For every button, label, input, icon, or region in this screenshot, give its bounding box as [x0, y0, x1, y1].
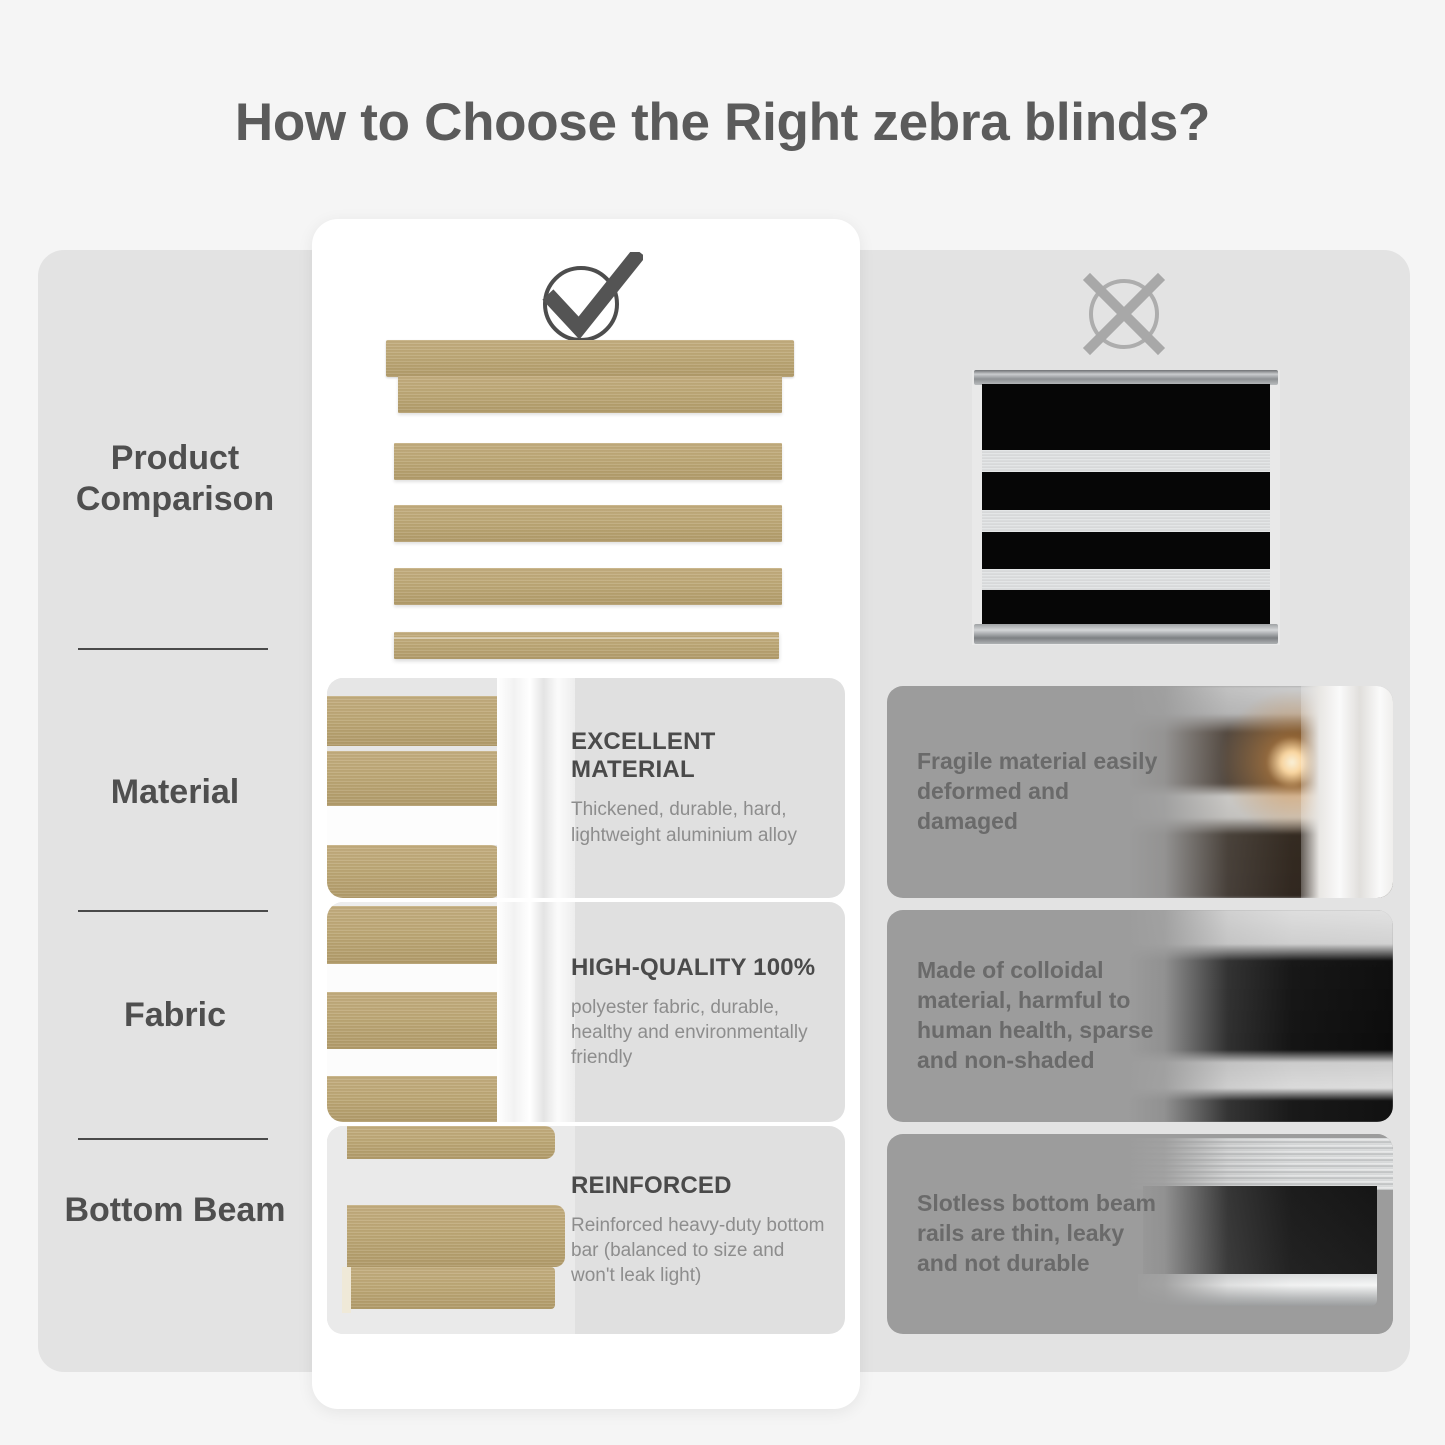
check-circle-icon — [531, 252, 643, 348]
fabric-photo — [327, 902, 575, 1122]
blind-slat — [394, 443, 782, 480]
card-heading: HIGH-QUALITY 100% — [571, 954, 831, 982]
card-body: Reinforced heavy-duty bottom bar (balanc… — [571, 1213, 831, 1289]
blind-black-band — [982, 590, 1270, 626]
fabric-text: HIGH-QUALITY 100% polyester fabric, dura… — [571, 902, 845, 1122]
sidebar-label-line: Product Comparison — [38, 438, 312, 521]
sidebar-divider-1 — [78, 648, 268, 650]
sidebar-label-line: Fabric — [38, 995, 312, 1036]
material-photo — [327, 678, 575, 898]
card-heading: REINFORCED — [571, 1172, 831, 1200]
page-title: How to Choose the Right zebra blinds? — [0, 92, 1445, 153]
feature-card-bottom-beam[interactable]: REINFORCED Reinforced heavy-duty bottom … — [327, 1126, 845, 1334]
feature-card-fabric[interactable]: HIGH-QUALITY 100% polyester fabric, dura… — [327, 902, 845, 1122]
blind-headrail-fabric — [398, 376, 782, 413]
beige-zebra-blind-hero — [386, 340, 794, 665]
fragile-material-text: Fragile material easily deformed and dam… — [917, 686, 1167, 898]
criteria-sidebar: Product Comparison Material Fabric Botto… — [38, 250, 312, 1372]
card-body: Fragile material easily deformed and dam… — [917, 747, 1167, 837]
black-zebra-blind-hero — [972, 370, 1280, 645]
sidebar-item-product-comparison: Product Comparison — [38, 438, 312, 521]
material-text: EXCELLENT MATERIAL Thickened, durable, h… — [571, 678, 845, 898]
bottom-beam-photo — [327, 1126, 575, 1334]
blind-black-band — [982, 472, 1270, 510]
drawback-card-material[interactable]: Fragile material easily deformed and dam… — [887, 686, 1393, 898]
sidebar-item-material: Material — [38, 772, 312, 813]
blind-slat — [394, 505, 782, 542]
sidebar-divider-2 — [78, 910, 268, 912]
blind-bottom-rail — [974, 624, 1278, 644]
blind-sheer-band — [982, 569, 1270, 590]
blind-bottom-bar — [394, 632, 779, 659]
blind-sheer-band — [982, 510, 1270, 532]
drawback-card-fabric[interactable]: Made of colloidal material, harmful to h… — [887, 910, 1393, 1122]
slotless-beam-text: Slotless bottom beam rails are thin, lea… — [917, 1134, 1167, 1334]
blind-black-band — [982, 384, 1270, 450]
feature-card-material[interactable]: EXCELLENT MATERIAL Thickened, durable, h… — [327, 678, 845, 898]
sidebar-item-bottom-beam: Bottom Beam — [38, 1190, 312, 1231]
blind-top-rail — [974, 370, 1278, 385]
drawback-card-bottom-beam[interactable]: Slotless bottom beam rails are thin, lea… — [887, 1134, 1393, 1334]
sidebar-label-line: Bottom Beam — [38, 1190, 312, 1231]
bottom-beam-text: REINFORCED Reinforced heavy-duty bottom … — [571, 1126, 845, 1334]
blind-sheer-band — [982, 450, 1270, 472]
sidebar-divider-3 — [78, 1138, 268, 1140]
card-body: polyester fabric, durable, healthy and e… — [571, 995, 831, 1071]
card-body: Thickened, durable, hard, lightweight al… — [571, 797, 831, 848]
sidebar-label-line: Material — [38, 772, 312, 813]
cross-circle-icon — [1078, 268, 1170, 360]
blind-headrail — [386, 340, 794, 377]
card-heading: EXCELLENT MATERIAL — [571, 728, 831, 784]
card-body: Slotless bottom beam rails are thin, lea… — [917, 1189, 1167, 1279]
sidebar-item-fabric: Fabric — [38, 995, 312, 1036]
colloidal-material-text: Made of colloidal material, harmful to h… — [917, 910, 1167, 1122]
blind-slat — [394, 568, 782, 605]
blind-black-band — [982, 532, 1270, 569]
card-body: Made of colloidal material, harmful to h… — [917, 956, 1167, 1076]
